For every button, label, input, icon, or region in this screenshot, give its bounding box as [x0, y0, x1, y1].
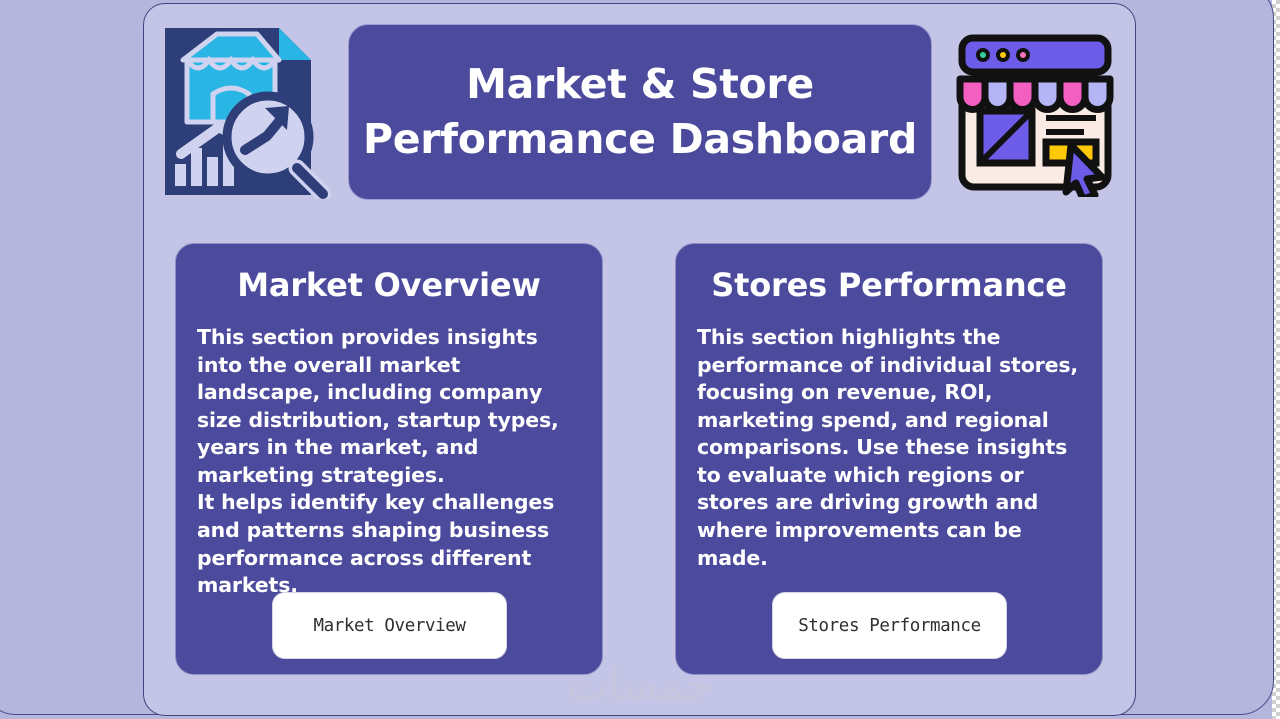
card-stores-performance: Stores Performance This section highligh…: [675, 243, 1103, 675]
cards-region: Market Overview This section provides in…: [143, 3, 1136, 716]
card-body-market-overview: This section provides insights into the …: [197, 324, 581, 600]
card-title-stores-performance: Stores Performance: [676, 266, 1102, 304]
dashboard-screenshot: Market & Store Performance Dashboard: [0, 0, 1280, 719]
card-body-stores-performance: This section highlights the performance …: [697, 324, 1081, 572]
market-overview-button[interactable]: Market Overview: [272, 592, 507, 659]
stores-performance-button[interactable]: Stores Performance: [772, 592, 1007, 659]
card-market-overview: Market Overview This section provides in…: [175, 243, 603, 675]
card-title-market-overview: Market Overview: [176, 266, 602, 304]
